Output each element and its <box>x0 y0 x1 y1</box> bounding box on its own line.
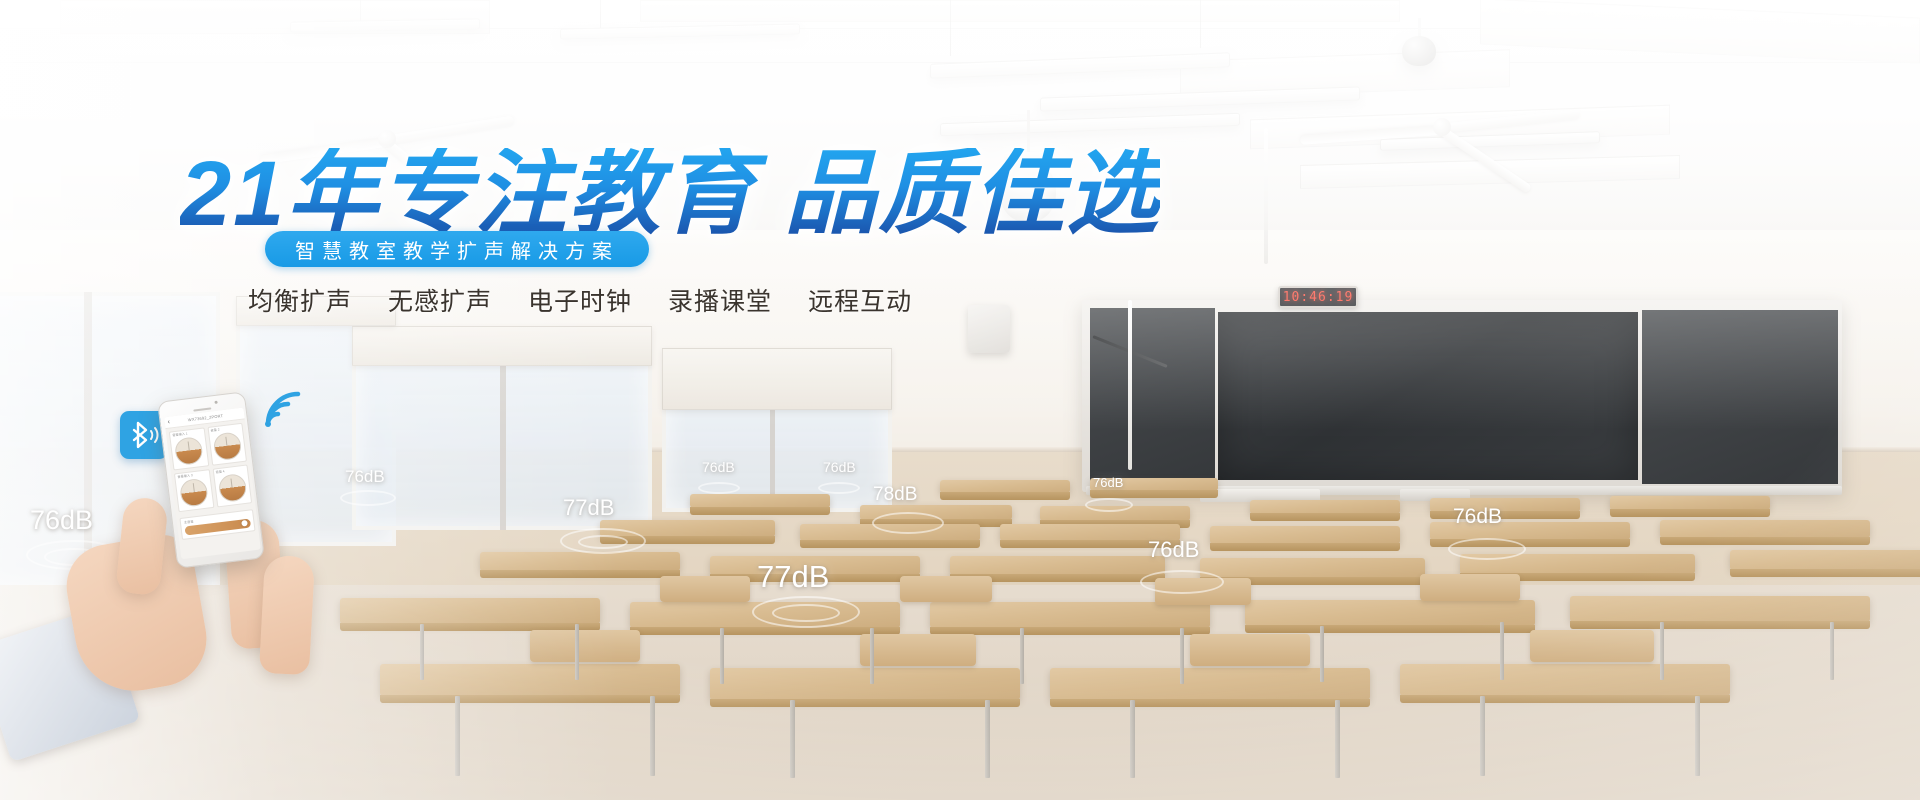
page-title: 21年专注教育品质佳选 <box>180 148 1160 240</box>
phone-camera <box>214 401 217 404</box>
master-volume-card[interactable]: 主音量 <box>179 509 255 540</box>
db-label: 78dB <box>873 484 917 506</box>
ceiling-fan-right <box>1290 106 1590 150</box>
middle-finger <box>259 555 315 675</box>
volume-card-grid: 音量输入 1 音量 2 音量输入 3 音量 4 <box>165 419 255 515</box>
db-label: 77dB <box>563 495 614 521</box>
subtitle-pill: 智慧教室教学扩声解决方案 <box>265 231 649 267</box>
feature-item: 录播课堂 <box>668 282 772 318</box>
volume-knob[interactable] <box>217 473 247 503</box>
digital-clock: 10:46:19 <box>1278 286 1358 308</box>
classroom-banner: 10:46:19 <box>0 0 1920 800</box>
volume-knob[interactable] <box>212 431 242 461</box>
db-label: 76dB <box>702 459 735 475</box>
volume-card[interactable]: 音量输入 1 <box>169 427 209 470</box>
clock-time: 10:46:19 <box>1283 290 1354 305</box>
slider-handle[interactable] <box>241 520 248 527</box>
volume-knob[interactable] <box>179 477 209 507</box>
db-label: 76dB <box>30 505 93 536</box>
volume-card[interactable]: 音量 2 <box>207 423 247 466</box>
db-label: 77dB <box>757 559 829 595</box>
wifi-signal-icon <box>262 386 306 435</box>
volume-card[interactable]: 音量 4 <box>212 464 252 507</box>
feature-list: 均衡扩声无感扩声电子时钟录播课堂远程互动 <box>248 282 912 318</box>
phone-screen[interactable]: ‹ WX73692_2PORT 音量输入 1 音量 2 音量输入 3 音量 4 <box>164 408 261 560</box>
db-label: 76dB <box>823 459 856 475</box>
db-label: 76dB <box>1093 475 1123 490</box>
blackboard-main <box>1218 312 1638 480</box>
blackboard-left-wing <box>1090 308 1215 484</box>
feature-item: 远程互动 <box>808 282 912 318</box>
volume-knob[interactable] <box>174 436 204 466</box>
db-label: 76dB <box>1453 505 1502 529</box>
feature-item: 无感扩声 <box>388 282 492 318</box>
db-label: 76dB <box>345 467 385 487</box>
feature-item: 电子时钟 <box>528 282 632 318</box>
db-label: 76dB <box>1148 537 1199 563</box>
wall-control-panel <box>968 305 1010 353</box>
blackboard-right-wing <box>1642 310 1838 484</box>
feature-item: 均衡扩声 <box>248 282 352 318</box>
mic-pole-right <box>1264 128 1268 264</box>
headline-part2: 品质佳选 <box>784 143 1160 245</box>
headline-part1: 21年专注教育 <box>180 143 756 245</box>
volume-card[interactable]: 音量输入 3 <box>174 469 214 512</box>
mic-pole-left <box>1128 300 1132 470</box>
